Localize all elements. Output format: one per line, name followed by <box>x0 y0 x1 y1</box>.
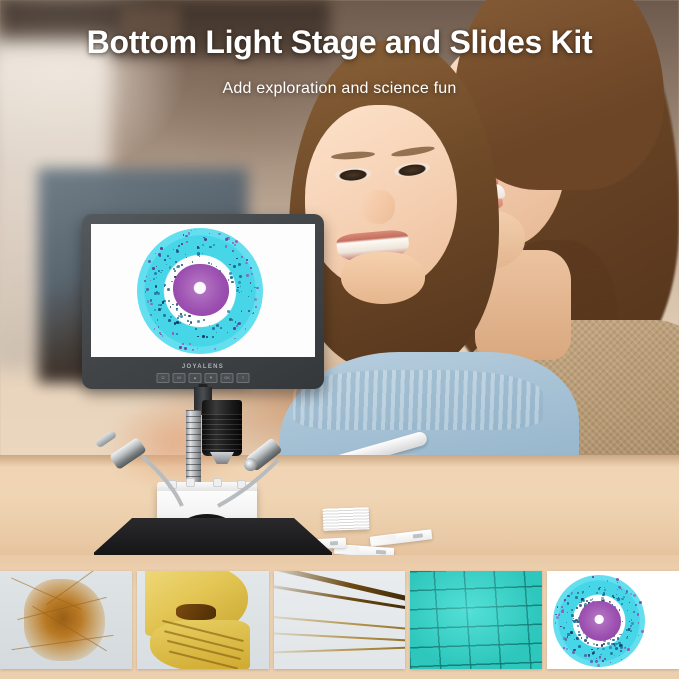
specimen-speck <box>229 264 231 266</box>
specimen-speck <box>169 266 171 268</box>
cross-section-core <box>579 601 621 641</box>
specimen-speck <box>601 599 602 600</box>
specimen-speck <box>150 303 152 305</box>
specimen-speck <box>588 655 590 657</box>
specimen-speck <box>176 333 178 335</box>
specimen-speck <box>615 643 617 645</box>
specimen-speck <box>231 282 232 283</box>
specimen-speck <box>587 642 589 644</box>
specimen-speck <box>213 244 215 246</box>
specimen-speck <box>621 659 622 660</box>
specimen-speck <box>176 250 179 253</box>
screen-specimen-core <box>173 264 229 316</box>
specimen-speck <box>556 616 559 619</box>
specimen-speck <box>227 310 230 313</box>
specimen-speck <box>216 324 219 327</box>
specimen-speck <box>228 279 229 280</box>
specimen-speck <box>184 314 186 316</box>
specimen-speck <box>234 338 236 340</box>
specimen-speck <box>631 622 634 625</box>
specimen-speck <box>590 660 593 663</box>
specimen-speck <box>156 277 157 278</box>
specimen-speck <box>154 328 156 330</box>
specimen-speck <box>637 613 640 616</box>
specimen-speck <box>578 645 581 648</box>
specimen-speck <box>185 235 187 237</box>
specimen-speck <box>572 651 575 654</box>
specimen-speck <box>240 286 241 287</box>
specimen-speck <box>246 262 248 264</box>
specimen-speck <box>146 288 149 291</box>
specimen-speck <box>150 314 152 316</box>
specimen-speck <box>246 274 249 277</box>
specimen-speck <box>157 319 158 320</box>
specimen-speck <box>160 272 161 273</box>
gooseneck-arm-left <box>142 456 182 506</box>
specimen-speck <box>621 603 623 605</box>
specimen-speck <box>197 336 198 337</box>
ok-button[interactable]: OK <box>221 373 234 383</box>
mode-button[interactable]: M <box>173 373 186 383</box>
specimen-speck <box>186 241 188 243</box>
specimen-speck <box>589 586 590 587</box>
specimen-speck <box>596 592 598 594</box>
specimen-speck <box>573 620 576 623</box>
specimen-speck <box>233 327 235 329</box>
specimen-speck <box>635 604 637 606</box>
specimen-speck <box>633 594 636 597</box>
specimen-speck <box>641 630 644 633</box>
specimen-speck <box>197 348 198 349</box>
specimen-speck <box>171 281 172 282</box>
specimen-speck <box>167 288 170 291</box>
specimen-speck <box>155 253 156 254</box>
slide-label <box>371 535 397 546</box>
specimen-speck <box>555 622 557 624</box>
specimen-speck <box>596 644 598 646</box>
specimen-speck <box>177 317 179 319</box>
specimen-speck <box>187 320 189 322</box>
specimen-speck <box>563 627 565 629</box>
specimen-speck <box>192 261 194 263</box>
specimen-speck <box>573 649 575 651</box>
specimen-speck <box>158 326 160 328</box>
specimen-speck <box>567 612 568 613</box>
specimen-speck <box>233 265 236 268</box>
specimen-speck <box>169 258 170 259</box>
specimen-fibrous-tissue <box>0 571 132 669</box>
specimen-speck <box>250 282 252 284</box>
page-subtitle: Add exploration and science fun <box>0 80 679 98</box>
product-marketing-image: JOYALENS ⏻ M ▲ ▼ OK ≡ <box>0 0 679 679</box>
specimen-speck <box>154 272 157 275</box>
specimen-speck <box>227 332 228 333</box>
specimen-speck <box>558 614 560 616</box>
specimen-speck <box>232 319 234 321</box>
specimen-speck <box>620 634 622 636</box>
page-title: Bottom Light Stage and Slides Kit <box>0 24 679 61</box>
specimen-speck <box>175 261 177 263</box>
specimen-speck <box>630 625 632 627</box>
specimen-speck <box>170 306 172 308</box>
specimen-speck <box>617 637 619 639</box>
specimen-speck <box>616 578 619 581</box>
specimen-speck <box>209 233 210 234</box>
specimen-speck <box>190 321 193 324</box>
specimen-speck <box>612 595 614 597</box>
specimen-speck <box>239 292 240 293</box>
child-chin <box>341 252 425 304</box>
specimen-speck <box>564 599 566 601</box>
specimen-speck <box>630 630 632 632</box>
specimen-speck <box>604 589 606 591</box>
specimen-speck <box>582 599 585 602</box>
specimen-speck <box>176 308 177 309</box>
specimen-speck <box>206 336 208 338</box>
specimen-speck <box>603 592 606 595</box>
specimen-speck <box>597 664 600 667</box>
specimen-speck <box>256 287 259 290</box>
specimen-speck <box>195 229 196 230</box>
specimen-speck <box>181 264 184 267</box>
specimen-speck <box>562 609 564 611</box>
specimen-speck <box>639 601 642 604</box>
specimen-speck <box>178 245 181 248</box>
specimen-speck <box>182 343 184 345</box>
specimen-bristles <box>274 571 406 669</box>
specimen-speck <box>563 647 565 649</box>
specimen-speck <box>211 263 212 264</box>
specimen-speck <box>566 648 568 650</box>
specimen-speck <box>577 592 579 594</box>
specimen-thumbnail-strip <box>0 555 679 679</box>
specimen-speck <box>162 335 163 336</box>
specimen-speck <box>253 312 254 313</box>
specimen-speck <box>150 299 153 302</box>
specimen-speck <box>170 316 171 317</box>
specimen-speck <box>593 643 595 645</box>
bristle <box>274 632 406 642</box>
specimen-speck <box>153 278 156 281</box>
specimen-speck <box>166 264 167 265</box>
specimen-speck <box>202 335 205 338</box>
specimen-speck <box>638 622 639 623</box>
specimen-speck <box>627 610 629 612</box>
specimen-speck <box>195 328 197 330</box>
specimen-speck <box>179 346 182 349</box>
specimen-speck <box>152 267 155 270</box>
specimen-speck <box>582 591 584 593</box>
specimen-speck <box>619 655 620 656</box>
specimen-speck <box>600 654 601 655</box>
specimen-speck <box>602 660 604 662</box>
specimen-speck <box>251 273 253 275</box>
specimen-speck <box>607 580 608 581</box>
specimen-speck <box>218 233 221 236</box>
specimen-speck <box>197 320 200 323</box>
specimen-speck <box>560 626 561 627</box>
specimen-speck <box>160 247 163 250</box>
specimen-speck <box>236 258 237 259</box>
specimen-speck <box>577 625 579 627</box>
cell-highlight <box>410 571 542 669</box>
specimen-speck <box>227 237 229 239</box>
specimen-speck <box>620 650 622 652</box>
specimen-speck <box>241 256 243 258</box>
specimen-speck <box>172 332 175 335</box>
specimen-speck <box>159 332 161 334</box>
specimen-speck <box>199 256 200 257</box>
specimen-speck <box>578 631 580 633</box>
specimen-speck <box>176 321 178 323</box>
specimen-speck <box>198 247 200 249</box>
specimen-speck <box>621 598 624 601</box>
specimen-speck <box>148 260 151 263</box>
child-nose <box>361 190 395 224</box>
specimen-speck <box>229 272 232 275</box>
specimen-speck <box>145 291 146 292</box>
specimen-speck <box>189 343 191 345</box>
slide-specimen <box>413 533 423 538</box>
specimen-speck <box>174 270 177 273</box>
specimen-speck <box>181 243 183 245</box>
specimen-speck <box>631 619 633 621</box>
specimen-speck <box>571 609 573 611</box>
specimen-speck <box>610 662 611 663</box>
specimen-speck <box>158 304 160 306</box>
up-button[interactable]: ▲ <box>189 373 202 383</box>
specimen-speck <box>241 310 242 311</box>
specimen-speck <box>164 259 166 261</box>
specimen-speck <box>627 648 630 651</box>
specimen-speck <box>184 347 187 350</box>
specimen-speck <box>567 636 568 637</box>
specimen-speck <box>579 604 581 606</box>
specimen-speck <box>168 300 170 302</box>
lcd-screen <box>91 224 315 357</box>
control-button-row[interactable]: ⏻ M ▲ ▼ OK ≡ <box>157 373 250 383</box>
brand-label: JOYALENS <box>82 364 324 370</box>
specimen-speck <box>241 291 242 292</box>
specimen-speck <box>236 325 238 327</box>
specimen-speck <box>154 309 156 311</box>
specimen-speck <box>212 336 214 338</box>
gooseneck-right <box>202 426 302 516</box>
specimen-speck <box>235 240 238 243</box>
specimen-speck <box>584 654 587 657</box>
bristle <box>274 647 406 654</box>
specimen-speck <box>234 244 236 246</box>
specimen-speck <box>567 633 569 635</box>
specimen-speck <box>619 609 621 611</box>
lamp-tip-right <box>244 458 257 471</box>
specimen-speck <box>238 322 241 325</box>
specimen-speck <box>604 587 606 589</box>
specimen-speck <box>250 267 252 269</box>
specimen-leaf-cells <box>410 571 542 669</box>
specimen-speck <box>212 327 215 330</box>
specimen-speck <box>209 246 211 248</box>
specimen-speck <box>599 656 602 659</box>
specimen-speck <box>602 648 605 651</box>
specimen-speck <box>610 639 611 640</box>
specimen-speck <box>173 249 174 250</box>
specimen-speck <box>191 230 192 231</box>
slide-specimen <box>376 550 386 555</box>
specimen-speck <box>576 607 579 610</box>
specimen-speck <box>626 590 629 593</box>
dark-structure <box>176 604 216 620</box>
specimen-speck <box>613 643 615 645</box>
specimen-speck <box>254 298 257 301</box>
specimen-speck <box>563 637 566 640</box>
specimen-speck <box>614 655 616 657</box>
specimen-speck <box>575 596 578 599</box>
specimen-speck <box>230 276 233 279</box>
specimen-speck <box>197 252 200 255</box>
specimen-speck <box>238 263 241 266</box>
specimen-speck <box>607 642 610 645</box>
specimen-speck <box>216 332 217 333</box>
specimen-speck <box>592 576 594 578</box>
specimen-insect-wing <box>137 571 269 669</box>
specimen-speck <box>616 594 617 595</box>
specimen-speck <box>225 238 228 241</box>
hero-scene: JOYALENS ⏻ M ▲ ▼ OK ≡ <box>0 0 679 571</box>
specimen-speck <box>147 300 150 303</box>
bristle <box>274 616 406 631</box>
specimen-speck <box>214 348 216 350</box>
specimen-speck <box>238 281 241 284</box>
specimen-speck <box>144 280 146 282</box>
specimen-speck <box>188 232 190 234</box>
specimen-speck <box>591 649 592 650</box>
specimen-speck <box>576 637 579 640</box>
specimen-speck <box>633 611 635 613</box>
specimen-speck <box>615 647 618 650</box>
specimen-speck <box>617 582 618 583</box>
specimen-speck <box>177 265 180 268</box>
specimen-speck <box>638 635 639 636</box>
specimen-stem-cross-section <box>547 571 679 669</box>
specimen-speck <box>156 266 157 267</box>
specimen-speck <box>208 262 210 264</box>
specimen-speck <box>167 255 169 257</box>
specimen-speck <box>168 319 171 322</box>
specimen-speck <box>203 319 205 321</box>
specimen-speck <box>209 325 210 326</box>
specimen-speck <box>189 324 190 325</box>
specimen-speck <box>557 606 559 608</box>
specimen-speck <box>204 238 207 241</box>
specimen-speck <box>202 253 204 255</box>
specimen-speck <box>622 621 623 622</box>
specimen-speck <box>164 286 165 287</box>
specimen-speck <box>624 647 626 649</box>
specimen-speck <box>592 652 594 654</box>
specimen-speck <box>188 315 191 318</box>
specimen-speck <box>626 637 628 639</box>
specimen-speck <box>155 285 158 288</box>
specimen-speck <box>573 618 574 619</box>
specimen-speck <box>248 310 250 312</box>
specimen-speck <box>232 250 233 251</box>
specimen-speck <box>604 658 605 659</box>
specimen-speck <box>620 646 623 649</box>
specimen-speck <box>146 276 147 277</box>
monitor-housing: JOYALENS ⏻ M ▲ ▼ OK ≡ <box>82 214 324 389</box>
specimen-speck <box>158 308 161 311</box>
specimen-speck <box>216 266 217 267</box>
specimen-speck <box>155 322 156 323</box>
specimen-speck <box>567 595 569 597</box>
specimen-speck <box>617 589 618 590</box>
down-button[interactable]: ▼ <box>205 373 218 383</box>
specimen-speck <box>245 328 246 329</box>
specimen-speck <box>225 245 227 247</box>
specimen-speck <box>251 290 252 291</box>
menu-button[interactable]: ≡ <box>237 373 250 383</box>
specimen-speck <box>629 602 630 603</box>
specimen-speck <box>159 255 161 257</box>
specimen-speck <box>202 244 205 247</box>
specimen-speck <box>597 649 598 650</box>
specimen-speck <box>186 257 187 258</box>
power-button[interactable]: ⏻ <box>157 373 170 383</box>
specimen-speck <box>180 315 183 318</box>
specimen-speck <box>578 634 581 637</box>
specimen-speck <box>239 275 242 278</box>
specimen-speck <box>248 296 250 298</box>
specimen-speck <box>609 646 612 649</box>
specimen-speck <box>183 234 184 235</box>
specimen-speck <box>610 652 613 655</box>
specimen-speck <box>185 254 186 255</box>
specimen-speck <box>598 588 600 590</box>
specimen-speck <box>570 631 573 634</box>
specimen-speck <box>596 658 597 659</box>
specimen-speck <box>630 593 632 595</box>
specimen-speck <box>157 292 160 295</box>
specimen-speck <box>595 660 598 663</box>
specimen-speck <box>612 639 614 641</box>
abdomen-segments <box>150 620 250 669</box>
specimen-speck <box>629 621 630 622</box>
specimen-speck <box>255 306 257 308</box>
specimen-speck <box>150 280 151 281</box>
specimen-speck <box>179 322 181 324</box>
specimen-speck <box>574 639 575 640</box>
specimen-speck <box>172 304 173 305</box>
specimen-speck <box>618 597 619 598</box>
specimen-speck <box>235 321 237 323</box>
specimen-speck <box>621 589 622 590</box>
specimen-speck <box>567 602 570 605</box>
bristle <box>274 585 406 611</box>
specimen-speck <box>566 622 567 623</box>
digital-microscope: JOYALENS ⏻ M ▲ ▼ OK ≡ <box>82 214 350 554</box>
specimen-speck <box>561 606 563 608</box>
specimen-speck <box>160 304 162 306</box>
specimen-speck <box>220 327 222 329</box>
specimen-speck <box>581 637 583 639</box>
specimen-speck <box>163 314 165 316</box>
